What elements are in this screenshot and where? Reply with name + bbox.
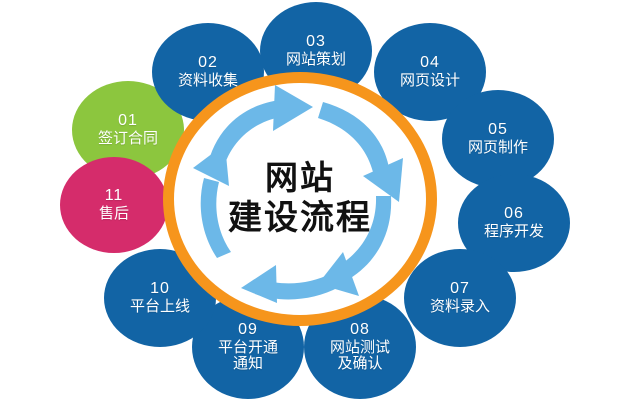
step-number: 02 bbox=[198, 54, 218, 72]
step-label-line-2: 及确认 bbox=[337, 356, 382, 373]
step-bubble-05[interactable]: 05网页制作 bbox=[442, 90, 554, 188]
step-number: 05 bbox=[488, 121, 508, 139]
step-bubble-11[interactable]: 11售后 bbox=[60, 157, 168, 253]
step-number: 06 bbox=[504, 205, 524, 223]
infographic-canvas: 01签订合同02资料收集03网站策划04网页设计05网页制作06程序开发07资料… bbox=[0, 0, 640, 401]
step-number: 01 bbox=[118, 112, 138, 130]
step-label-line-1: 程序开发 bbox=[484, 224, 544, 241]
step-label-line-1: 资料录入 bbox=[430, 299, 490, 316]
step-label-line-2: 通知 bbox=[233, 356, 263, 373]
step-label-line-1: 网页制作 bbox=[468, 140, 528, 157]
cycle-arrow-left bbox=[193, 144, 231, 258]
step-number: 03 bbox=[306, 33, 326, 51]
step-number: 04 bbox=[420, 54, 440, 72]
step-number: 07 bbox=[450, 280, 470, 298]
step-number: 11 bbox=[105, 187, 124, 205]
step-label-line-1: 签订合同 bbox=[98, 131, 158, 148]
cycle-arrow-bottom bbox=[241, 265, 339, 303]
cycle-arrow-right-upper bbox=[318, 102, 403, 202]
step-label-line-1: 网站策划 bbox=[286, 52, 346, 69]
cycle-arrow-group bbox=[163, 72, 437, 326]
step-label-line-1: 售后 bbox=[99, 206, 129, 223]
